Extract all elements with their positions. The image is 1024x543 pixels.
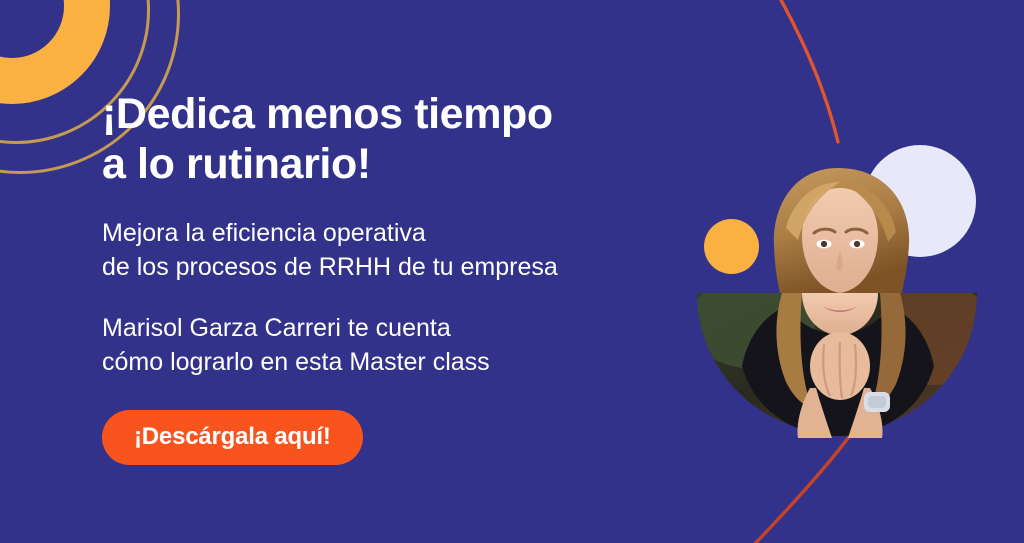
speaker-line-1: Marisol Garza Carreri te cuenta xyxy=(102,314,451,342)
amber-donut-arc-icon xyxy=(0,0,110,104)
subheadline-line-1: Mejora la eficiencia operativa xyxy=(102,219,426,247)
speaker-text: Marisol Garza Carreri te cuenta cómo log… xyxy=(102,311,662,380)
headline-line-2: a lo rutinario! xyxy=(102,140,371,188)
speaker-line-2: cómo lograrlo en esta Master class xyxy=(102,348,490,376)
headline-line-1: ¡Dedica menos tiempo xyxy=(102,90,553,138)
subheadline: Mejora la eficiencia operativa de los pr… xyxy=(102,216,662,285)
portrait-cluster xyxy=(690,120,990,440)
subheadline-line-2: de los procesos de RRHH de tu empresa xyxy=(102,253,558,281)
portrait-photo xyxy=(690,120,990,440)
promo-banner: ¡Dedica menos tiempo a lo rutinario! Mej… xyxy=(0,0,1024,543)
download-cta-button[interactable]: ¡Descárgala aquí! xyxy=(102,410,363,465)
copy-column: ¡Dedica menos tiempo a lo rutinario! Mej… xyxy=(102,90,662,465)
page-title: ¡Dedica menos tiempo a lo rutinario! xyxy=(102,90,662,190)
